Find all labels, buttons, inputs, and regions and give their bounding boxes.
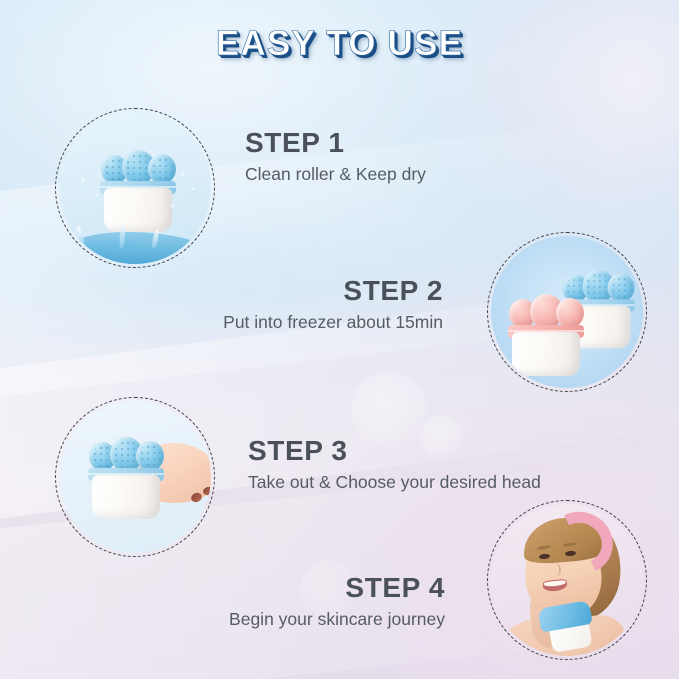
woman-portrait [491,504,643,656]
step-4-image-circle [487,500,647,660]
step-1-description: Clean roller & Keep dry [245,164,426,186]
step-1-image-clip [59,112,211,264]
water-droplet-icon [181,172,186,178]
hand-holding-roller-scene [59,401,211,553]
step-3-image-clip [59,401,211,553]
step-2-image-clip [491,236,643,388]
step-3-description: Take out & Choose your desired head [248,472,541,494]
step-4-title: STEP 4 [229,573,445,602]
step-1-title: STEP 1 [245,128,426,157]
page-title: EASY TO USE [0,24,679,64]
step-1-image-circle [55,108,215,268]
step-3-text: STEP 3 Take out & Choose your desired he… [248,436,541,494]
woman-using-roller-scene [491,504,643,656]
ice-roller-device-pink-icon [503,292,589,376]
infographic-canvas: EASY TO USE [0,0,679,679]
step-1-text: STEP 1 Clean roller & Keep dry [245,128,426,186]
step-3-title: STEP 3 [248,436,541,465]
step-3-image-circle [55,397,215,557]
step-2-image-circle [487,232,647,392]
step-2-text: STEP 2 Put into freezer about 15min [223,276,443,334]
water-droplet-icon [95,194,99,199]
roller-lobe [148,154,176,184]
ice-roller-water-scene [59,112,211,264]
step-2-description: Put into freezer about 15min [223,312,443,334]
water-splash [59,200,211,264]
water-droplet-icon [81,178,87,185]
step-4-text: STEP 4 Begin your skincare journey [229,573,445,631]
two-ice-rollers-scene [491,236,643,388]
step-2-title: STEP 2 [223,276,443,305]
roller-lobe [556,298,584,328]
teeth [544,580,566,587]
roller-lobe [608,273,635,302]
ice-roller-device-icon [537,600,598,655]
step-4-image-clip [491,504,643,656]
roller-base [512,332,580,376]
step-4-description: Begin your skincare journey [229,609,445,631]
roller-base [92,475,160,519]
water-droplet-icon [192,188,196,192]
roller-lobe [136,441,164,471]
ice-roller-device-icon [83,435,169,519]
